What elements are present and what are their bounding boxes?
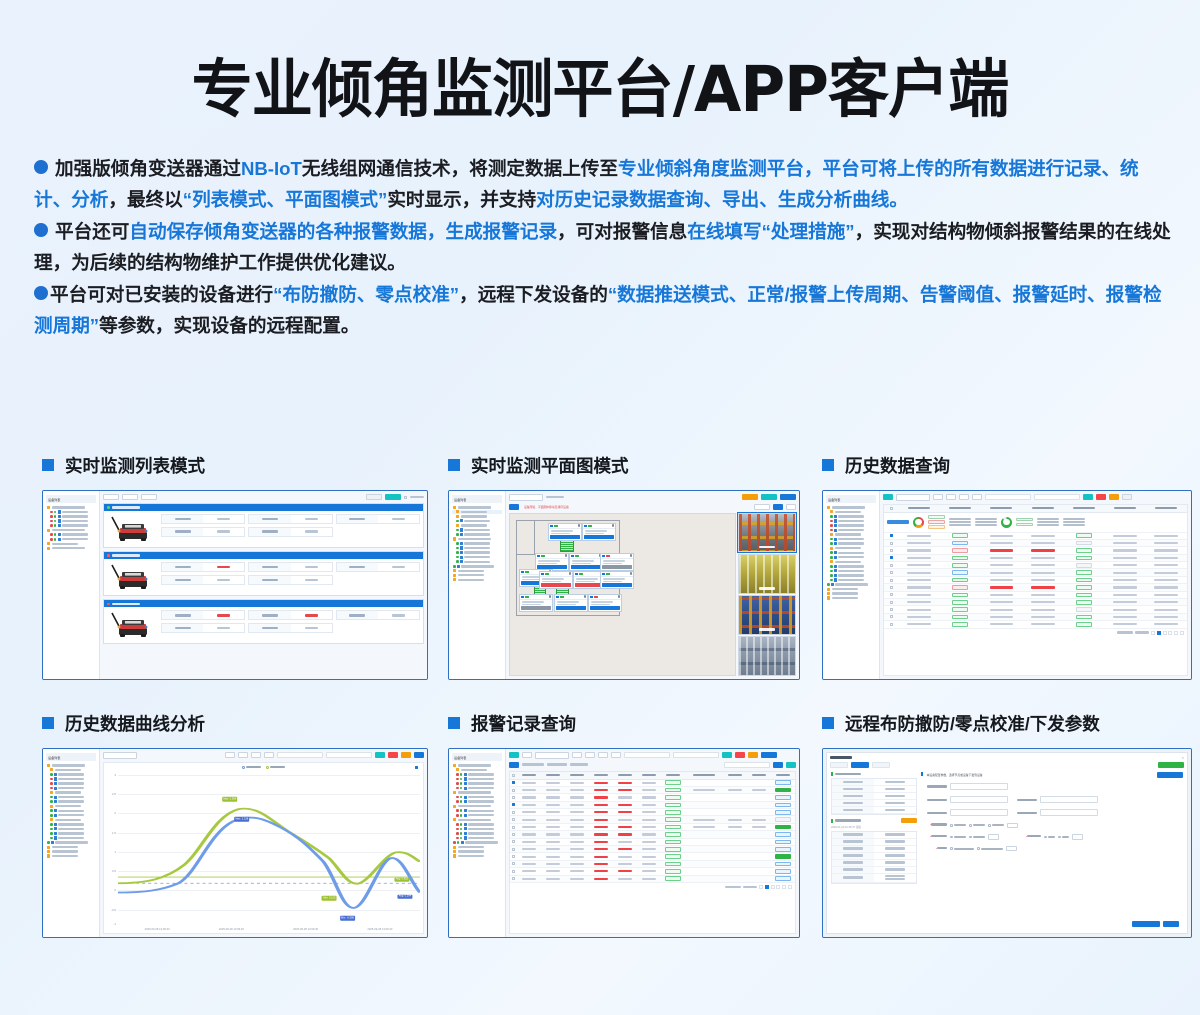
- alarm-stats-bar: [509, 762, 796, 768]
- text-run: NB-IoT: [241, 158, 302, 179]
- input-alarm-threshold[interactable]: [950, 809, 1008, 816]
- table-row[interactable]: [510, 846, 795, 853]
- chart-annotation: Min: 0.125: [322, 896, 337, 901]
- history-table[interactable]: [883, 504, 1188, 677]
- screenshot-alarm[interactable]: 设备列表: [448, 748, 800, 938]
- range-today[interactable]: [238, 752, 248, 758]
- sidebar-title: 设备列表: [46, 753, 96, 761]
- toggle-plan-mode[interactable]: [366, 494, 382, 500]
- btn-send-push-mode[interactable]: [1007, 823, 1018, 829]
- kv-battery: [161, 575, 245, 585]
- y-tick: 3: [105, 773, 116, 777]
- table-row[interactable]: [884, 614, 1187, 621]
- device-image: [107, 514, 157, 544]
- curve-chart[interactable]: 3 2.5 2 1.5 1 0.5 0 -0.5 -1: [103, 762, 424, 935]
- radio-group-push-mode[interactable]: *: [921, 823, 1183, 829]
- kv-arm-state: [336, 514, 420, 524]
- kv-battery: [161, 623, 245, 633]
- list-toolbar[interactable]: [103, 494, 424, 500]
- floor-plan-area[interactable]: [509, 513, 796, 677]
- btn-batch-process[interactable]: [761, 752, 777, 758]
- table-header: [884, 505, 1187, 513]
- y-tick: 1: [105, 850, 116, 854]
- range-7days[interactable]: [598, 752, 608, 758]
- kv-arm-state: [336, 562, 420, 572]
- screenshot-remote[interactable]: ×: [822, 748, 1192, 938]
- device-icon: [58, 538, 61, 541]
- section-title: 远程布防撤防/零点校准/下发参数: [845, 711, 1100, 736]
- plan-device-card[interactable]: [569, 553, 603, 571]
- plan-device-card[interactable]: [519, 594, 553, 612]
- device-select[interactable]: [896, 494, 930, 501]
- table-row[interactable]: [510, 824, 795, 831]
- table-row[interactable]: [510, 868, 795, 875]
- param-form-panel[interactable]: 本设备配置参数，选择节点或设备下发到设备 *: [921, 772, 1183, 930]
- table-row[interactable]: [510, 794, 795, 801]
- x-tick: 2025-09-28 13:09:40: [219, 928, 244, 931]
- tab-device-info[interactable]: [830, 762, 848, 768]
- table-row[interactable]: [510, 839, 795, 846]
- sidebar-title: 设备列表: [452, 753, 502, 761]
- tab-send-content[interactable]: [872, 762, 890, 768]
- kv-signal: [248, 623, 332, 633]
- input-alarm-cycle[interactable]: [1040, 796, 1098, 803]
- section-header: 远程布防撤防/零点校准/下发参数: [822, 710, 1192, 736]
- project-select[interactable]: [509, 494, 543, 501]
- folder-icon: [47, 542, 50, 545]
- device-card-header: [104, 600, 423, 607]
- btn-reset[interactable]: [735, 752, 745, 758]
- chart-annotation: Min: -0.586: [340, 916, 356, 921]
- square-marker-icon: [42, 717, 54, 729]
- folder-icon: [47, 529, 50, 532]
- table-row[interactable]: [884, 577, 1187, 584]
- gear-icon: [630, 572, 632, 574]
- gear-icon: [549, 595, 551, 597]
- btn-send-restart[interactable]: [1006, 846, 1017, 852]
- section-header: 实时监测列表模式: [42, 452, 428, 478]
- gear-icon: [569, 572, 571, 574]
- toggle-list-mode[interactable]: [385, 494, 401, 500]
- gear-icon: [584, 595, 586, 597]
- text-run: ，远程下发设备的: [459, 284, 608, 305]
- y-tick: 2.5: [105, 792, 116, 796]
- device-card[interactable]: [103, 599, 424, 644]
- section-curve: 历史数据曲线分析 设备列表: [42, 710, 428, 938]
- page-title: 专业倾角监测平台/APP客户端: [18, 0, 1182, 121]
- device-image: [107, 562, 157, 592]
- btn-export[interactable]: [401, 752, 411, 758]
- section-remote: 远程布防撤防/零点校准/下发参数 ×: [822, 710, 1192, 938]
- square-marker-icon: [822, 717, 834, 729]
- section-title: 历史数据查询: [845, 453, 950, 478]
- stat-processed: [509, 762, 519, 768]
- chart-annotation: Avg: 0.852: [394, 877, 409, 882]
- plan-subtoolbar[interactable]: 设备所属、平面图中移动及排序设备: [509, 504, 796, 510]
- text-run: “布防撤防、零点校准”: [273, 284, 459, 305]
- y-tick: -1: [105, 922, 116, 926]
- kv-y-angle: [248, 610, 332, 620]
- range-yesterday[interactable]: [611, 752, 621, 758]
- alarm-table[interactable]: [509, 771, 796, 935]
- tab-confirm-alarm[interactable]: [509, 752, 519, 758]
- bullet-dot-icon: [34, 160, 48, 174]
- alarm-toolbar[interactable]: [509, 752, 796, 759]
- gear-icon: [578, 524, 580, 526]
- text-run: 对历史记录数据查询、导出、生成分析曲线。: [536, 189, 908, 210]
- table-row[interactable]: [510, 861, 795, 868]
- range-7days[interactable]: [251, 752, 261, 758]
- y-tick: 0.5: [105, 869, 116, 873]
- chart-annotation: Max: 2.568: [222, 797, 238, 802]
- device-icon: [58, 533, 61, 536]
- search-input[interactable]: [724, 762, 770, 768]
- legend-item-x: [242, 766, 261, 769]
- table-row[interactable]: [510, 831, 795, 838]
- btn-reset[interactable]: [1096, 494, 1106, 500]
- btn-search[interactable]: [375, 752, 385, 758]
- text-run: 自动保存倾角变送器的各种报警数据，生成报警记录: [129, 221, 557, 242]
- kv-x-angle: [161, 562, 245, 572]
- screenshot-history[interactable]: 设备列表: [822, 490, 1192, 680]
- table-row[interactable]: [510, 780, 795, 787]
- y-tick: 1.5: [105, 831, 116, 835]
- summary-row: [884, 513, 1187, 533]
- section-plan-mode: 实时监测平面图模式 设备列表: [448, 452, 800, 680]
- device-tree-sidebar[interactable]: 设备列表: [43, 491, 100, 679]
- device-icon: [58, 510, 61, 513]
- btn-export[interactable]: [748, 752, 758, 758]
- realtime-data-panel: 2026-01-20 10:25:37 读取: [831, 772, 917, 930]
- default-checkbox[interactable]: [404, 496, 407, 499]
- btn-cancel-config[interactable]: [1157, 772, 1183, 778]
- plan-card-footer: [550, 535, 580, 538]
- form-note: 本设备配置参数，选择节点或设备下发到设备: [925, 772, 1155, 778]
- tree-node: [452, 578, 502, 582]
- btn-floor[interactable]: [773, 504, 783, 510]
- chart-x-axis: 2025-09-28 13:09:40 2025-09-28 13:09:40 …: [104, 928, 423, 933]
- paragraph-3: 平台可对已安装的设备进行“布防撤防、零点校准”，远程下发设备的“数据推送模式、正…: [34, 279, 1172, 341]
- text-run: 平台可对已安装的设备进行: [50, 284, 273, 305]
- range-month[interactable]: [225, 752, 235, 758]
- pagination[interactable]: [510, 883, 795, 891]
- photo-thumb[interactable]: [738, 554, 796, 594]
- btn-grid-view[interactable]: [414, 752, 424, 758]
- device-tree-sidebar[interactable]: 设备列表: [449, 749, 506, 937]
- kv-battery: [161, 527, 245, 537]
- gear-icon: [565, 554, 567, 556]
- plan-device-card[interactable]: [588, 594, 622, 612]
- table-row[interactable]: [884, 533, 1187, 540]
- text-run: ，最终以: [108, 189, 182, 210]
- device-tree-sidebar[interactable]: 设备列表: [449, 491, 506, 679]
- section-header: 历史数据查询: [822, 452, 1192, 478]
- gear-icon: [618, 595, 620, 597]
- device-card[interactable]: [103, 503, 424, 548]
- sidebar-title: 设备列表: [46, 495, 96, 503]
- sidebar-title: 设备列表: [826, 495, 876, 503]
- minmax-checkbox[interactable]: [415, 766, 420, 769]
- gear-icon: [630, 554, 632, 556]
- text-run: 加强版倾角变送器通过: [55, 158, 241, 179]
- table-row[interactable]: [884, 606, 1187, 613]
- kv-y-angle: [248, 562, 332, 572]
- folder-icon: [47, 547, 50, 550]
- date-to[interactable]: [1034, 494, 1080, 500]
- range-yesterday[interactable]: [972, 494, 982, 500]
- btn-edit-layout[interactable]: [742, 494, 758, 500]
- range-yesterday[interactable]: [264, 752, 274, 758]
- section-title: 历史数据曲线分析: [65, 711, 205, 736]
- table-row[interactable]: [510, 802, 795, 809]
- range-month[interactable]: [933, 494, 943, 500]
- radio-group-arm[interactable]: * *: [921, 834, 1183, 840]
- range-month[interactable]: [572, 752, 582, 758]
- date-from[interactable]: [624, 752, 670, 758]
- table-row[interactable]: [884, 547, 1187, 554]
- realtime-table: [831, 778, 917, 815]
- device-tree-sidebar[interactable]: 设备列表: [823, 491, 880, 679]
- table-row[interactable]: [510, 787, 795, 794]
- table-row[interactable]: [510, 876, 795, 883]
- legend-item-y: [266, 766, 285, 769]
- tab-send-params[interactable]: [851, 762, 869, 768]
- btn-send[interactable]: [1163, 921, 1179, 928]
- plan-device-card[interactable]: [539, 571, 573, 589]
- table-row[interactable]: [510, 809, 795, 816]
- kv-signal: [248, 575, 332, 585]
- device-card-header: [104, 552, 423, 559]
- y-tick: -0.5: [105, 908, 116, 912]
- btn-show-columns[interactable]: [883, 494, 893, 500]
- folder-icon: [47, 506, 50, 509]
- btn-search[interactable]: [722, 752, 732, 758]
- square-marker-icon: [448, 717, 460, 729]
- plan-device-card[interactable]: [600, 553, 634, 571]
- poster-page: 专业倾角监测平台/APP客户端 加强版倾角变送器通过NB-IoT无线组网通信技术…: [0, 0, 1200, 1015]
- section-title: 实时监测列表模式: [65, 453, 205, 478]
- btn-sync-device[interactable]: [754, 504, 770, 510]
- btn-open-all[interactable]: [103, 494, 119, 500]
- chart-plot-area: 3 2.5 2 1.5 1 0.5 0 -0.5 -1: [118, 772, 420, 927]
- text-run: ，可对报警信息: [557, 221, 687, 242]
- table-row[interactable]: [884, 562, 1187, 569]
- paragraph-1: 加强版倾角变送器通过NB-IoT无线组网通信技术，将测定数据上传至专业倾斜角度监…: [34, 153, 1172, 215]
- square-marker-icon: [42, 459, 54, 471]
- device-icon: [58, 524, 61, 527]
- btn-show-columns[interactable]: [786, 762, 796, 768]
- section-title: 实时监测平面图模式: [471, 453, 629, 478]
- btn-send-arm[interactable]: [988, 834, 999, 840]
- square-marker-icon: [448, 459, 460, 471]
- table-row[interactable]: [884, 584, 1187, 591]
- kv-signal: [248, 527, 332, 537]
- btn-arm-config[interactable]: [1158, 762, 1184, 768]
- section-header: 报警记录查询: [448, 710, 800, 736]
- btn-export[interactable]: [1109, 494, 1119, 500]
- screenshot-row-1: 实时监测列表模式 设备列表: [0, 452, 1200, 680]
- camera-photo-list[interactable]: [738, 513, 796, 677]
- device-icon: [58, 519, 61, 522]
- section-title: 报警记录查询: [471, 711, 576, 736]
- table-row[interactable]: [510, 853, 795, 860]
- modal-tabs[interactable]: [827, 762, 1187, 770]
- history-toolbar[interactable]: [883, 494, 1188, 501]
- section-header: 实时监测平面图模式: [448, 452, 800, 478]
- section-list-mode: 实时监测列表模式 设备列表: [42, 452, 428, 680]
- device-image: [107, 610, 157, 640]
- input-normal-cycle[interactable]: [950, 796, 1008, 803]
- range-today[interactable]: [585, 752, 595, 758]
- screenshot-row-2: 历史数据曲线分析 设备列表: [0, 710, 1200, 938]
- btn-apply-same-group[interactable]: [1132, 921, 1160, 928]
- photo-thumb[interactable]: [738, 595, 796, 635]
- plan-device-card[interactable]: [554, 594, 588, 612]
- bullet-dot-icon: [34, 286, 48, 300]
- radio-group-restart[interactable]: *: [921, 846, 1183, 852]
- y-tick: 2: [105, 811, 116, 815]
- table-row[interactable]: [884, 599, 1187, 606]
- device-select[interactable]: [535, 752, 569, 759]
- btn-undo-layout[interactable]: [780, 494, 796, 500]
- date-to[interactable]: [326, 752, 372, 758]
- plan-note: 设备所属、平面图中移动及排序设备: [522, 504, 571, 510]
- description-block: 加强版倾角变送器通过NB-IoT无线组网通信技术，将测定数据上传至专业倾斜角度监…: [34, 153, 1172, 341]
- range-7days[interactable]: [959, 494, 969, 500]
- y-tick: 0: [105, 888, 116, 892]
- text-run: “列表模式、平面图模式”: [183, 189, 388, 210]
- square-marker-icon: [822, 459, 834, 471]
- read-timestamp: 2026-01-20 10:25:37 读取: [831, 825, 917, 829]
- screenshot-list-mode[interactable]: 设备列表: [42, 490, 428, 680]
- search-button[interactable]: [773, 762, 783, 768]
- section-history: 历史数据查询 设备列表: [822, 452, 1192, 680]
- tab-ignore-alarm[interactable]: [522, 752, 532, 758]
- paragraph-2: 平台还可自动保存倾角变送器的各种报警数据，生成报警记录，可对报警信息在线填写“处…: [34, 216, 1172, 278]
- table-row[interactable]: [884, 592, 1187, 599]
- photo-thumb[interactable]: [738, 636, 796, 676]
- plan-device-card[interactable]: [600, 571, 634, 589]
- kv-x-angle: [161, 610, 245, 620]
- btn-reset[interactable]: [388, 752, 398, 758]
- screenshot-grid: 实时监测列表模式 设备列表: [0, 452, 1200, 938]
- plan-device-card[interactable]: [548, 523, 582, 541]
- section-header: 历史数据曲线分析: [42, 710, 428, 736]
- btn-display[interactable]: [786, 504, 796, 510]
- device-card[interactable]: [103, 551, 424, 596]
- chart-annotation: Avg: 0.294: [397, 894, 412, 899]
- text-run: 无线组网通信技术，将测定数据上传至: [302, 158, 618, 179]
- device-tree-sidebar[interactable]: 设备列表: [43, 749, 100, 937]
- table-row[interactable]: [884, 621, 1187, 628]
- sidebar-title: 设备列表: [452, 495, 502, 503]
- kv-x-angle: [161, 514, 245, 524]
- bullet-dot-icon: [34, 223, 48, 237]
- input-alarm-delay[interactable]: [1040, 809, 1098, 816]
- modal-header: ×: [827, 753, 1187, 762]
- range-today[interactable]: [946, 494, 956, 500]
- modal-footer[interactable]: [921, 921, 1183, 931]
- date-to[interactable]: [673, 752, 719, 758]
- date-from[interactable]: [985, 494, 1031, 500]
- tree-node: [46, 546, 96, 550]
- chart-annotation: Max: 2.158: [234, 817, 250, 822]
- device-card-header: [104, 504, 423, 511]
- plan-device-card[interactable]: [582, 523, 616, 541]
- btn-expand-all[interactable]: [141, 494, 157, 500]
- table-row[interactable]: [884, 569, 1187, 576]
- screenshot-plan-mode[interactable]: 设备列表: [448, 490, 800, 680]
- screenshot-curve[interactable]: 设备列表: [42, 748, 428, 938]
- section-alarm: 报警记录查询 设备列表: [448, 710, 800, 938]
- floor-plan-map[interactable]: [509, 513, 736, 677]
- kv-arm-state: [336, 610, 420, 620]
- table-row[interactable]: [884, 555, 1187, 562]
- btn-close-all[interactable]: [122, 494, 138, 500]
- plan-toolbar[interactable]: [509, 494, 796, 501]
- x-tick: 2025-09-28 13:09:40: [145, 928, 170, 931]
- gear-icon: [612, 524, 614, 526]
- device-icon: [58, 515, 61, 518]
- kv-y-angle: [248, 514, 332, 524]
- btn-add-app[interactable]: [761, 494, 777, 500]
- work-params-table: [831, 831, 917, 884]
- table-row[interactable]: [510, 816, 795, 823]
- date-from[interactable]: [277, 752, 323, 758]
- device-info-modal[interactable]: ×: [826, 752, 1188, 934]
- btn-send-zero-cal[interactable]: [1072, 834, 1083, 840]
- text-run: 实时显示，并支持: [387, 189, 536, 210]
- summary-count: [887, 520, 909, 524]
- pagination[interactable]: [884, 629, 1187, 637]
- arm-donut-chart: [1001, 517, 1012, 528]
- x-tick: 2025-09-28 13:09:40: [367, 928, 392, 931]
- device-select[interactable]: [103, 752, 137, 759]
- text-run: 等参数，实现设备的远程配置。: [99, 315, 359, 336]
- btn-settings[interactable]: [1122, 494, 1132, 500]
- curve-toolbar[interactable]: [103, 752, 424, 759]
- chart-legend[interactable]: [104, 763, 423, 772]
- btn-add-view[interactable]: [509, 504, 519, 510]
- input-heartbeat-cycle[interactable]: [950, 783, 1008, 790]
- text-run: 在线填写“处理措施”: [687, 221, 854, 242]
- text-run: 平台还可: [55, 221, 129, 242]
- table-row[interactable]: [884, 540, 1187, 547]
- alarm-donut-chart: [913, 517, 924, 528]
- btn-search[interactable]: [1083, 494, 1093, 500]
- table-header: [510, 772, 795, 780]
- photo-thumb[interactable]: [738, 513, 796, 553]
- x-tick: 2025-09-28 13:09:40: [293, 928, 318, 931]
